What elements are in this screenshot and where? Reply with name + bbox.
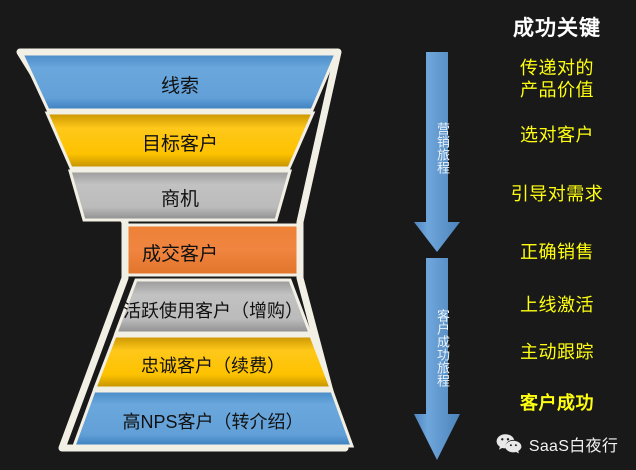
success-key-item-1-line-2: 产品价值 [478, 79, 636, 101]
success-key-item-7: 客户成功 [478, 392, 636, 414]
success-key-item-1: 传递对的 产品价值 [478, 57, 636, 101]
success-key-item-5: 上线激活 [478, 294, 636, 316]
funnel-diagram: 线索 目标客户 商机 成交客户 活跃使用客户（增购） 忠诚客户（续费） 高NPS… [0, 0, 420, 470]
journey-arrow-shapes [408, 0, 478, 470]
funnel-band-6 [95, 336, 331, 388]
funnel-band-2 [47, 113, 313, 168]
funnel-shape [0, 0, 420, 470]
funnel-band-4 [127, 225, 298, 275]
funnel-band-3 [70, 171, 290, 220]
journey-arrows: 营销旅程 客户成功旅程 [408, 0, 478, 470]
funnel-band-1 [22, 54, 336, 110]
funnel-band-7 [74, 391, 352, 446]
success-key-item-6: 主动跟踪 [478, 341, 636, 363]
success-key-item-1-line-1: 传递对的 [478, 57, 636, 79]
slide-canvas: 线索 目标客户 商机 成交客户 活跃使用客户（增购） 忠诚客户（续费） 高NPS… [0, 0, 636, 470]
success-key-item-3: 引导对需求 [478, 183, 636, 205]
success-key-item-2: 选对客户 [478, 124, 636, 146]
success-keys-column: 成功关键 传递对的 产品价值 选对客户 引导对需求 正确销售 上线激活 主动跟踪… [478, 0, 636, 470]
funnel-band-5 [116, 280, 310, 333]
success-keys-title: 成功关键 [478, 12, 636, 42]
brand-name: SaaS白夜行 [529, 432, 618, 456]
wechat-icon [496, 433, 522, 455]
customer-success-journey-arrow [414, 258, 460, 460]
success-key-item-4: 正确销售 [478, 241, 636, 263]
marketing-journey-arrow [414, 52, 460, 252]
brand-watermark: SaaS白夜行 [478, 432, 636, 456]
